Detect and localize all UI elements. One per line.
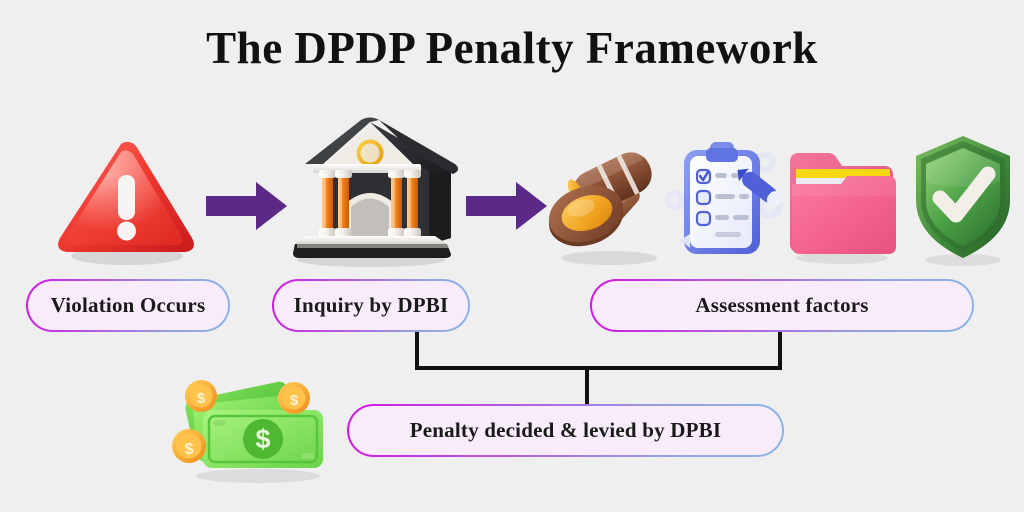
bank-building-icon [275,112,465,268]
page-title: The DPDP Penalty Framework [0,22,1024,74]
connector-line-horizontal [415,366,782,370]
folder-icon [784,136,899,266]
clipboard-checklist-icon [662,134,784,268]
svg-text:$: $ [185,441,194,458]
shield-check-icon [908,130,1018,268]
svg-text:$: $ [197,390,206,407]
step-label-assessment[interactable]: Assessment factors [590,279,974,332]
pill-inner: Violation Occurs [28,281,228,330]
pill-inner: Inquiry by DPBI [274,281,468,330]
step-label-text: Penalty decided & levied by DPBI [410,418,721,443]
pill-inner: Assessment factors [592,281,972,330]
arrow-right-icon-2 [466,180,548,237]
gavel-icon [543,140,673,268]
step-label-text: Assessment factors [695,293,868,318]
warning-triangle-icon [45,128,205,268]
step-label-text: Violation Occurs [51,293,206,318]
step-label-text: Inquiry by DPBI [294,293,449,318]
svg-text:$: $ [255,424,270,454]
svg-text:$: $ [290,392,299,409]
step-label-violation[interactable]: Violation Occurs [26,279,230,332]
connector-line-left-vertical [415,332,419,369]
connector-line-center-vertical [585,366,589,405]
connector-line-right-vertical [778,332,782,369]
diagram-canvas: The DPDP Penalty Framework [0,0,1024,512]
step-label-penalty[interactable]: Penalty decided & levied by DPBI [347,404,784,457]
money-cash-icon: $ $ $ $ [163,376,343,486]
pill-inner: Penalty decided & levied by DPBI [349,406,782,455]
step-label-inquiry[interactable]: Inquiry by DPBI [272,279,470,332]
